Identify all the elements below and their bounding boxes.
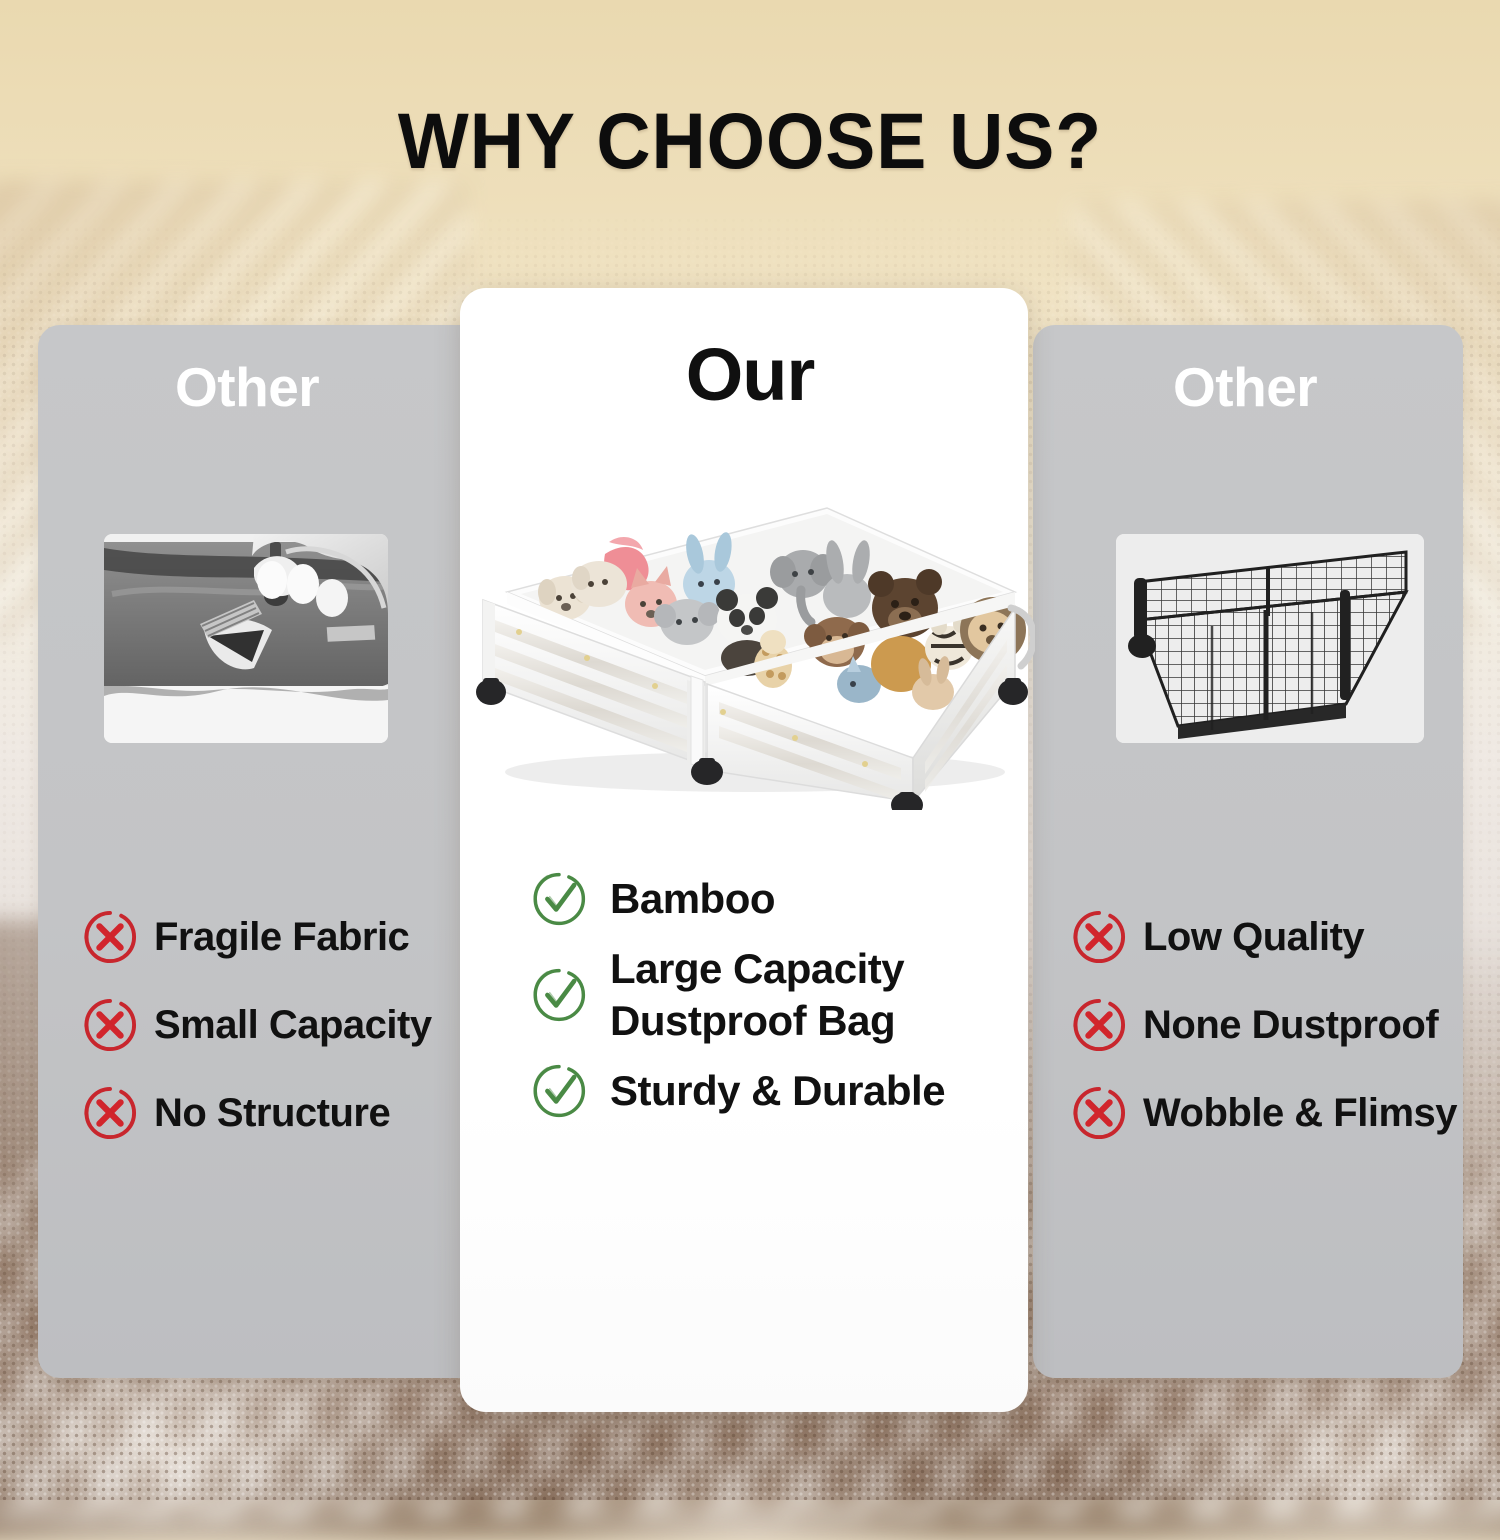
feature-label: None Dustproof (1143, 1001, 1438, 1050)
cross-icon (82, 909, 138, 965)
page-title: WHY CHOOSE US? (38, 99, 1463, 183)
torn-fabric-bag-photo (104, 534, 388, 743)
feature-label: Wobble & Flimsy (1143, 1089, 1457, 1138)
cross-icon (82, 997, 138, 1053)
feature-row: None Dustproof (1071, 981, 1471, 1069)
feature-label: Bamboo (610, 873, 775, 925)
panel-heading-our: Our (0, 332, 1500, 417)
feature-label: Low Quality (1143, 913, 1364, 962)
check-icon (530, 870, 588, 928)
cross-icon (1071, 909, 1127, 965)
feature-row: Sturdy & Durable (530, 1054, 1010, 1128)
feature-list-other-right: Low Quality None Dustproof (1071, 893, 1471, 1157)
cross-icon (1071, 1085, 1127, 1141)
wire-mesh-basket-photo (1116, 534, 1424, 743)
feature-row: Large Capacity Dustproof Bag (530, 936, 1010, 1054)
feature-row: Bamboo (530, 862, 1010, 936)
feature-row: Wobble & Flimsy (1071, 1069, 1471, 1157)
feature-label: Fragile Fabric (154, 913, 409, 962)
feature-label: No Structure (154, 1089, 390, 1138)
check-icon (530, 966, 588, 1024)
feature-label: Large Capacity Dustproof Bag (610, 943, 904, 1047)
bamboo-storage-box-photo (455, 480, 1035, 810)
cross-icon (82, 1085, 138, 1141)
feature-list-our: Bamboo Large Capacity Dustproof Bag Stur… (530, 862, 1010, 1128)
feature-label: Small Capacity (154, 1001, 432, 1050)
comparison-panel-our (460, 288, 1028, 1412)
feature-row: Low Quality (1071, 893, 1471, 981)
feature-label: Sturdy & Durable (610, 1065, 945, 1117)
cross-icon (1071, 997, 1127, 1053)
comparison-panel-other-right (1033, 325, 1463, 1378)
check-icon (530, 1062, 588, 1120)
